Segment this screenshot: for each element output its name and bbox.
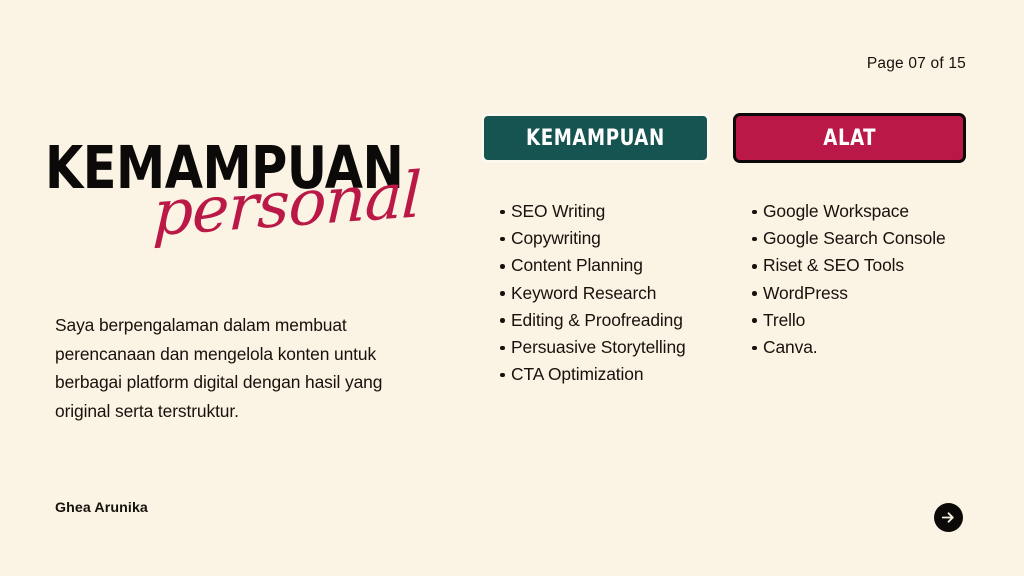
list-item: Keyword Research [481,280,710,307]
list-item: Persuasive Storytelling [481,334,710,361]
list-item: WordPress [733,280,966,307]
list-item: Google Search Console [733,225,966,252]
list-item: SEO Writing [481,198,710,225]
list-item: Google Workspace [733,198,966,225]
skills-list: SEO Writing Copywriting Content Planning… [481,198,710,388]
arrow-right-icon [940,509,957,526]
column-skills: KEMAMPUAN SEO Writing Copywriting Conten… [481,113,710,388]
list-item: Copywriting [481,225,710,252]
list-item: Editing & Proofreading [481,307,710,334]
next-slide-button[interactable] [934,503,963,532]
slide-canvas: Page 07 of 15 KEMAMPUAN personal Saya be… [0,0,1024,576]
intro-paragraph: Saya berpengalaman dalam membuat perenca… [55,311,440,425]
list-item: Trello [733,307,966,334]
tools-list: Google Workspace Google Search Console R… [733,198,966,361]
page-title-script: personal [152,163,422,245]
column-header-skills: KEMAMPUAN [481,113,710,163]
author-name: Ghea Arunika [55,500,148,516]
column-header-tools-label: ALAT [823,126,876,151]
list-item: Canva. [733,334,966,361]
list-item: Content Planning [481,252,710,279]
page-indicator: Page 07 of 15 [867,55,966,73]
column-header-tools: ALAT [733,113,966,163]
title-block: KEMAMPUAN personal [45,140,445,196]
column-header-skills-label: KEMAMPUAN [526,126,665,151]
list-item: Riset & SEO Tools [733,252,966,279]
list-item: CTA Optimization [481,361,710,388]
column-tools: ALAT Google Workspace Google Search Cons… [733,113,966,361]
